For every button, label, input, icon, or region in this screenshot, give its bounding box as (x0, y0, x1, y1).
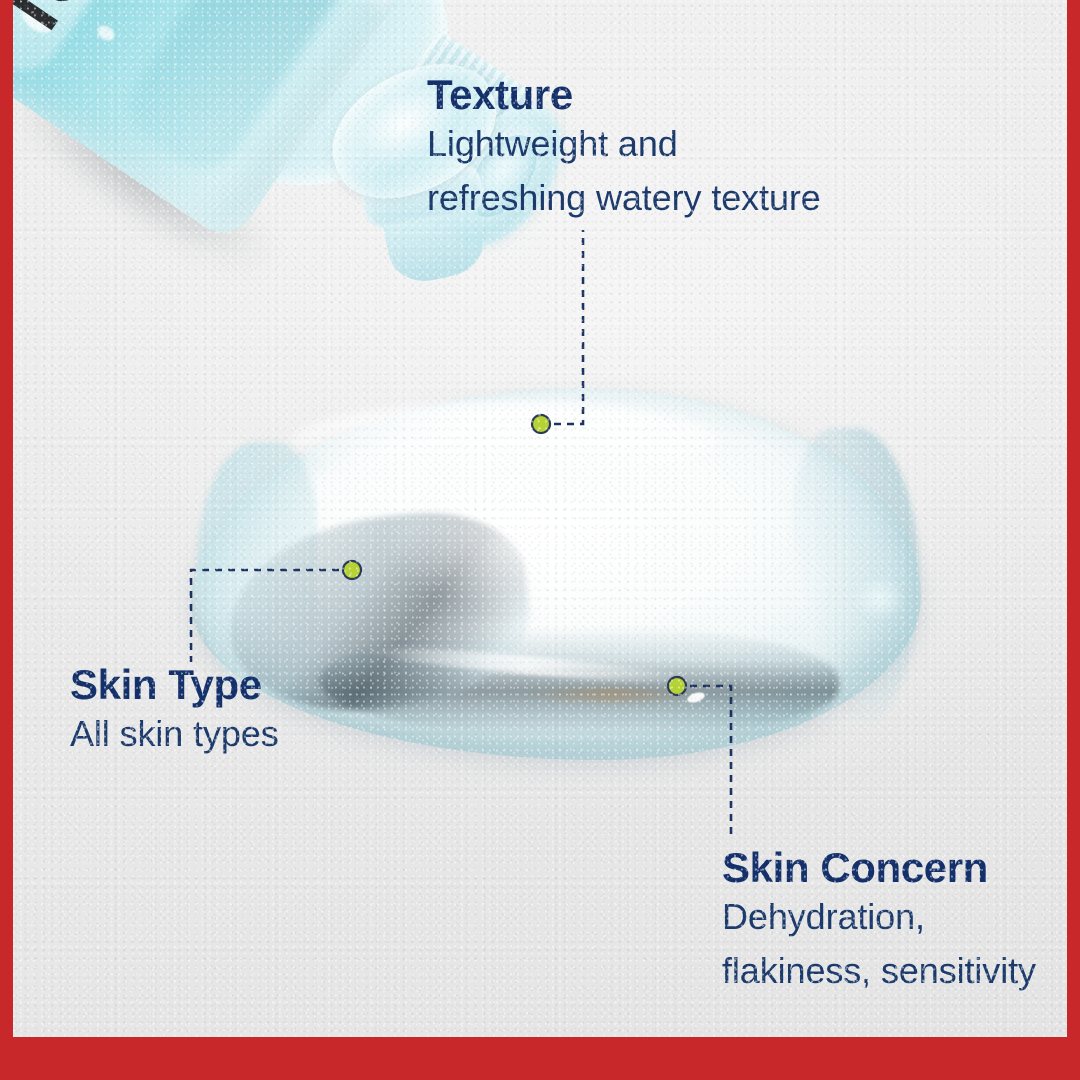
callout-texture-line-1: Lightweight and (427, 117, 821, 171)
callout-skin-concern: Skin Concern Dehydration, flakiness, sen… (722, 845, 1036, 998)
callout-texture: Texture Lightweight and refreshing water… (427, 72, 821, 225)
poster-canvas: Torriden EN (13, 0, 1067, 1037)
callout-skin-type-description: All skin types (70, 707, 279, 761)
callout-skin-type-line-1: All skin types (70, 707, 279, 761)
gel-droplet (191, 388, 921, 766)
droplet-warm-reflection (521, 688, 701, 702)
callout-skin-concern-line-2: flakiness, sensitivity (722, 944, 1036, 998)
product-infographic-poster: Torriden EN (0, 0, 1080, 1080)
callout-skin-concern-description: Dehydration, flakiness, sensitivity (722, 890, 1036, 998)
callout-skin-type-title: Skin Type (70, 662, 279, 707)
callout-texture-title: Texture (427, 72, 821, 117)
callout-skin-type: Skin Type All skin types (70, 662, 279, 761)
droplet-highlight-core (341, 448, 781, 668)
callout-texture-description: Lightweight and refreshing watery textur… (427, 117, 821, 225)
callout-skin-concern-title: Skin Concern (722, 845, 1036, 890)
callout-texture-line-2: refreshing watery texture (427, 171, 821, 225)
callout-skin-concern-line-1: Dehydration, (722, 890, 1036, 944)
droplet-right-notch (851, 568, 921, 628)
